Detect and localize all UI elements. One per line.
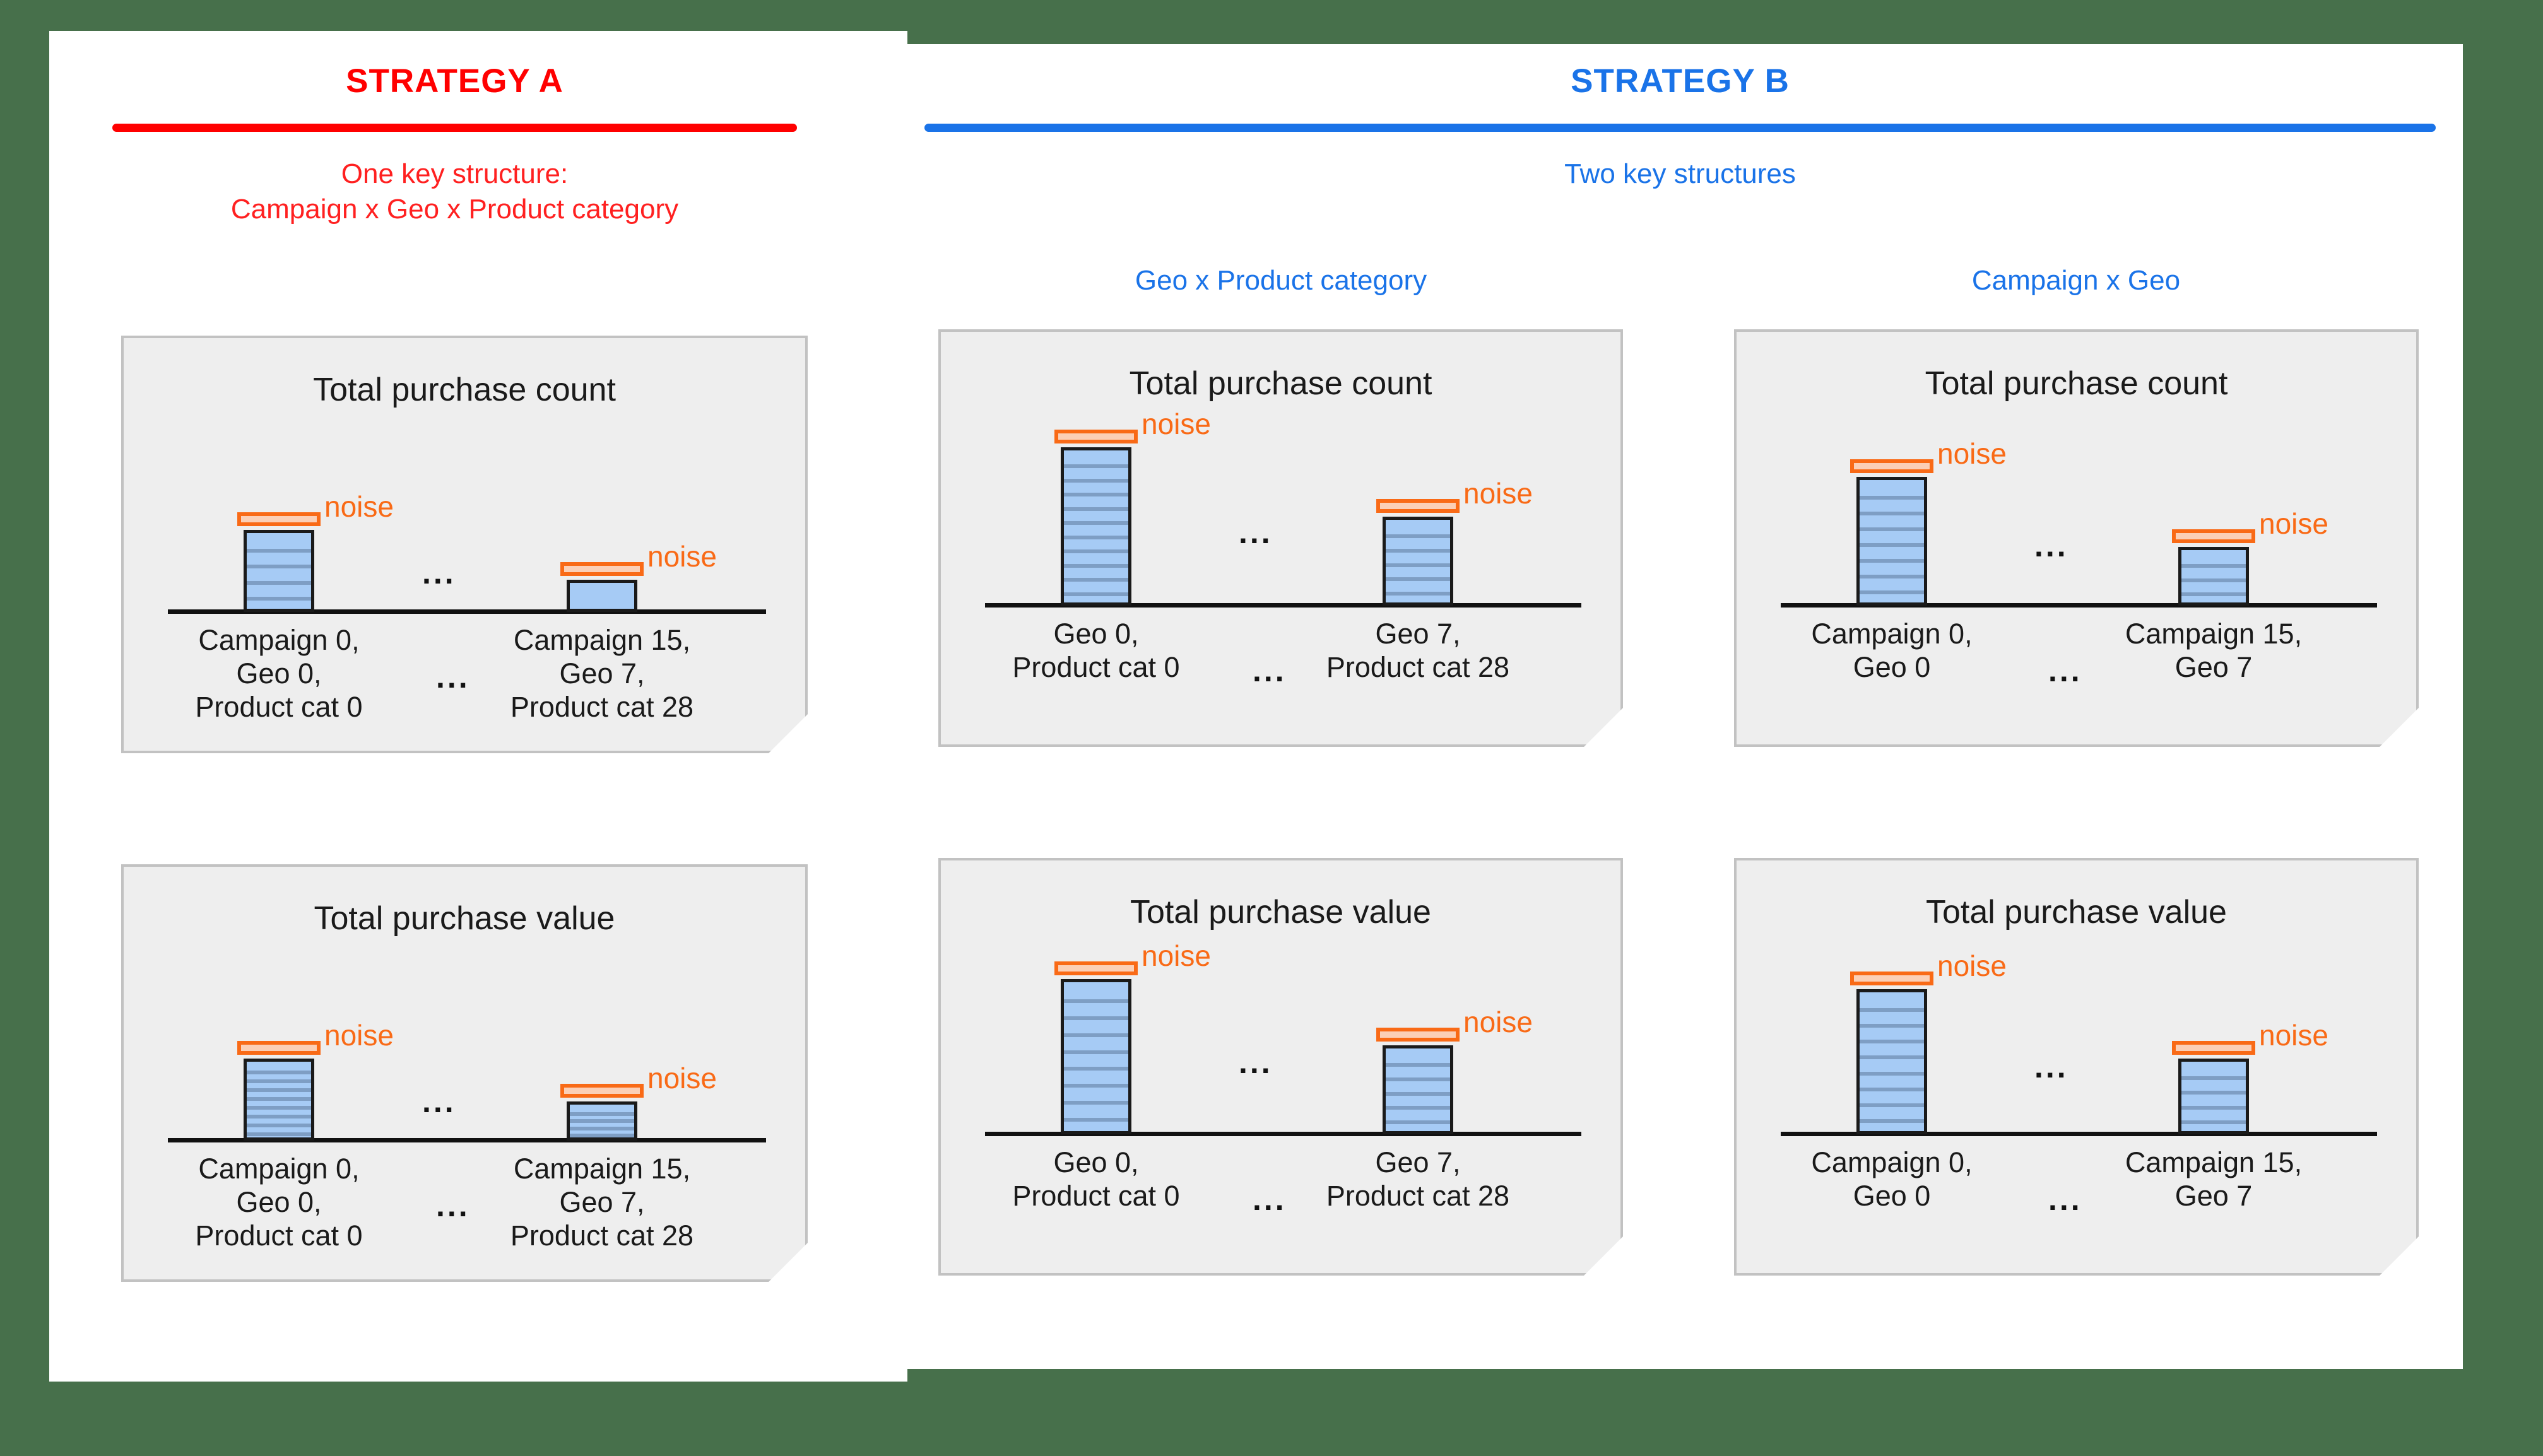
bar-segment-line bbox=[2181, 564, 2246, 568]
bar-segment-line bbox=[1386, 1120, 1450, 1124]
bar-segment-line bbox=[2181, 592, 2246, 596]
ellipsis-between-labels: ... bbox=[436, 1187, 470, 1224]
bar-segment-line bbox=[1064, 464, 1128, 468]
noise-label-0: noise bbox=[1937, 437, 2007, 471]
bar-segment-line bbox=[1064, 507, 1128, 511]
bar-0 bbox=[1061, 979, 1131, 1134]
bar-segment-line bbox=[247, 597, 311, 601]
chart-card-a-count: Total purchase countnoiseCampaign 0, Geo… bbox=[121, 336, 808, 753]
bar-segment-line bbox=[2181, 1091, 2246, 1095]
chart-card-b1-value: Total purchase valuenoiseGeo 0, Product … bbox=[938, 858, 1623, 1276]
bar-segment-line bbox=[1860, 1008, 1924, 1012]
x-axis-label-1: Campaign 15, Geo 7 bbox=[2031, 1146, 2397, 1212]
bar-segment-line bbox=[1064, 479, 1128, 483]
bar-1 bbox=[567, 1101, 637, 1141]
ellipsis-between-bars: ... bbox=[2034, 527, 2068, 564]
bar-segment-line bbox=[247, 1115, 311, 1118]
bar-0 bbox=[1061, 447, 1131, 606]
chart-card-b1-count: Total purchase countnoiseGeo 0, Product … bbox=[938, 329, 1623, 747]
x-axis-label-0: Campaign 0, Geo 0 bbox=[1709, 617, 2075, 684]
noise-label-1: noise bbox=[647, 1061, 717, 1095]
noise-label-1: noise bbox=[1463, 476, 1533, 510]
bar-segment-line bbox=[570, 1127, 634, 1130]
bar-segment-line bbox=[1860, 1103, 1924, 1107]
card-title: Total purchase count bbox=[1737, 365, 2416, 402]
bar-segment-line bbox=[1860, 1040, 1924, 1043]
bar-segment-line bbox=[1386, 1077, 1450, 1081]
strategy-b-title: STRATEGY B bbox=[924, 62, 2436, 100]
chart-card-a-value: Total purchase valuenoiseCampaign 0, Geo… bbox=[121, 864, 808, 1282]
bar-0 bbox=[244, 1059, 314, 1141]
ellipsis-between-labels: ... bbox=[2048, 652, 2082, 689]
noise-label-0: noise bbox=[1142, 407, 1211, 441]
strategy-a-subtitle: One key structure: Campaign x Geo x Prod… bbox=[112, 156, 797, 228]
noise-label-1: noise bbox=[2259, 507, 2328, 541]
noise-label-1: noise bbox=[1463, 1005, 1533, 1039]
x-axis-label-0: Campaign 0, Geo 0 bbox=[1709, 1146, 2075, 1212]
x-axis-label-1: Campaign 15, Geo 7 bbox=[2031, 617, 2397, 684]
noise-cap-1 bbox=[560, 562, 644, 576]
noise-cap-0 bbox=[237, 1041, 321, 1055]
x-axis-label-1: Geo 7, Product cat 28 bbox=[1235, 617, 1601, 684]
bar-segment-line bbox=[247, 1079, 311, 1083]
bar-segment-line bbox=[1386, 534, 1450, 538]
noise-label-1: noise bbox=[647, 539, 717, 573]
bar-segment-line bbox=[247, 581, 311, 585]
ellipsis-between-labels: ... bbox=[2048, 1181, 2082, 1218]
bar-segment-line bbox=[1064, 536, 1128, 539]
bar-segment-line bbox=[1064, 1033, 1128, 1037]
bar-segment-line bbox=[247, 1097, 311, 1101]
bar-segment-line bbox=[1860, 559, 1924, 563]
noise-cap-1 bbox=[560, 1084, 644, 1098]
noise-cap-0 bbox=[1054, 961, 1138, 975]
bar-segment-line bbox=[247, 1132, 311, 1136]
bar-1 bbox=[1383, 1045, 1453, 1134]
bar-1 bbox=[1383, 517, 1453, 606]
bar-segment-line bbox=[1386, 577, 1450, 581]
bar-segment-line bbox=[1860, 575, 1924, 578]
bar-segment-line bbox=[1064, 1118, 1128, 1122]
noise-cap-1 bbox=[2172, 529, 2255, 543]
bar-segment-line bbox=[1064, 1101, 1128, 1105]
bar-1 bbox=[567, 580, 637, 612]
ellipsis-between-bars: ... bbox=[422, 555, 456, 591]
ellipsis-between-bars: ... bbox=[1239, 514, 1273, 551]
strategy-b-rule bbox=[924, 124, 2436, 132]
bar-segment-line bbox=[1064, 521, 1128, 525]
bar-0 bbox=[244, 530, 314, 612]
bar-segment-line bbox=[570, 1134, 634, 1137]
bar-1 bbox=[2178, 547, 2249, 606]
bar-segment-line bbox=[247, 565, 311, 568]
bar-segment-line bbox=[1064, 493, 1128, 496]
bar-0 bbox=[1856, 477, 1927, 606]
ellipsis-between-labels: ... bbox=[436, 659, 470, 695]
strategy-a-rule bbox=[112, 124, 797, 132]
bar-segment-line bbox=[2181, 1076, 2246, 1080]
bar-segment-line bbox=[1386, 592, 1450, 596]
bar-segment-line bbox=[2181, 1120, 2246, 1124]
bar-segment-line bbox=[1860, 590, 1924, 594]
bar-segment-line bbox=[1064, 1050, 1128, 1054]
bar-segment-line bbox=[1064, 549, 1128, 553]
noise-cap-0 bbox=[1054, 430, 1138, 443]
strategy-a-title: STRATEGY A bbox=[112, 62, 797, 100]
noise-cap-1 bbox=[2172, 1041, 2255, 1055]
x-axis-label-1: Geo 7, Product cat 28 bbox=[1235, 1146, 1601, 1212]
bar-segment-line bbox=[1386, 563, 1450, 567]
bar-segment-line bbox=[247, 1088, 311, 1092]
bar-segment-line bbox=[247, 1071, 311, 1074]
ellipsis-between-labels: ... bbox=[1253, 652, 1287, 689]
x-axis-label-1: Campaign 15, Geo 7, Product cat 28 bbox=[419, 623, 785, 724]
bar-segment-line bbox=[1386, 1063, 1450, 1067]
bar-segment-line bbox=[1386, 1106, 1450, 1110]
bar-segment-line bbox=[1064, 578, 1128, 582]
noise-label-0: noise bbox=[1142, 939, 1211, 973]
bar-segment-line bbox=[2181, 1106, 2246, 1110]
bar-segment-line bbox=[247, 1106, 311, 1110]
structure-label-campaign-geo: Campaign x Geo bbox=[1735, 265, 2417, 296]
bar-segment-line bbox=[1860, 527, 1924, 531]
x-axis-label-0: Geo 0, Product cat 0 bbox=[913, 1146, 1279, 1212]
bar-segment-line bbox=[1064, 1067, 1128, 1071]
card-title: Total purchase value bbox=[941, 893, 1620, 931]
x-axis-label-1: Campaign 15, Geo 7, Product cat 28 bbox=[419, 1152, 785, 1252]
bar-segment-line bbox=[1860, 496, 1924, 500]
bar-segment-line bbox=[1064, 592, 1128, 596]
bar-segment-line bbox=[1860, 1072, 1924, 1076]
ellipsis-between-labels: ... bbox=[1253, 1181, 1287, 1218]
ellipsis-between-bars: ... bbox=[2034, 1048, 2068, 1085]
bar-0 bbox=[1856, 989, 1927, 1134]
card-title: Total purchase count bbox=[124, 371, 805, 409]
bar-segment-line bbox=[1860, 543, 1924, 547]
noise-cap-0 bbox=[1850, 972, 1933, 985]
bar-segment-line bbox=[1064, 564, 1128, 568]
noise-cap-0 bbox=[237, 512, 321, 526]
bar-segment-line bbox=[247, 1124, 311, 1127]
bar-1 bbox=[2178, 1059, 2249, 1134]
bar-segment-line bbox=[1860, 1088, 1924, 1091]
ellipsis-between-bars: ... bbox=[1239, 1044, 1273, 1081]
structure-label-geo-product: Geo x Product category bbox=[940, 265, 1622, 296]
noise-label-0: noise bbox=[324, 1018, 394, 1052]
bar-segment-line bbox=[1064, 999, 1128, 1003]
x-axis-label-0: Campaign 0, Geo 0, Product cat 0 bbox=[96, 1152, 462, 1252]
bar-segment-line bbox=[1860, 1024, 1924, 1028]
noise-cap-0 bbox=[1850, 459, 1933, 473]
bar-segment-line bbox=[1386, 1092, 1450, 1096]
bar-segment-line bbox=[1860, 1055, 1924, 1059]
bar-segment-line bbox=[1860, 512, 1924, 515]
card-title: Total purchase value bbox=[1737, 893, 2416, 931]
noise-label-0: noise bbox=[324, 490, 394, 524]
card-title: Total purchase count bbox=[941, 365, 1620, 402]
chart-card-b2-value: Total purchase valuenoiseCampaign 0, Geo… bbox=[1734, 858, 2419, 1276]
noise-label-1: noise bbox=[2259, 1018, 2328, 1052]
bar-segment-line bbox=[2181, 578, 2246, 582]
x-axis-label-0: Campaign 0, Geo 0, Product cat 0 bbox=[96, 623, 462, 724]
noise-label-0: noise bbox=[1937, 949, 2007, 983]
ellipsis-between-bars: ... bbox=[422, 1083, 456, 1120]
bar-segment-line bbox=[1064, 1016, 1128, 1020]
noise-cap-1 bbox=[1376, 499, 1460, 513]
x-axis-label-0: Geo 0, Product cat 0 bbox=[913, 617, 1279, 684]
bar-segment-line bbox=[570, 1112, 634, 1116]
strategy-b-subtitle: Two key structures bbox=[924, 156, 2436, 192]
chart-card-b2-count: Total purchase countnoiseCampaign 0, Geo… bbox=[1734, 329, 2419, 747]
bar-segment-line bbox=[1064, 1084, 1128, 1088]
bar-segment-line bbox=[1386, 549, 1450, 553]
noise-cap-1 bbox=[1376, 1028, 1460, 1042]
bar-segment-line bbox=[247, 549, 311, 553]
bar-segment-line bbox=[1860, 1119, 1924, 1123]
bar-segment-line bbox=[570, 1119, 634, 1123]
card-title: Total purchase value bbox=[124, 900, 805, 937]
